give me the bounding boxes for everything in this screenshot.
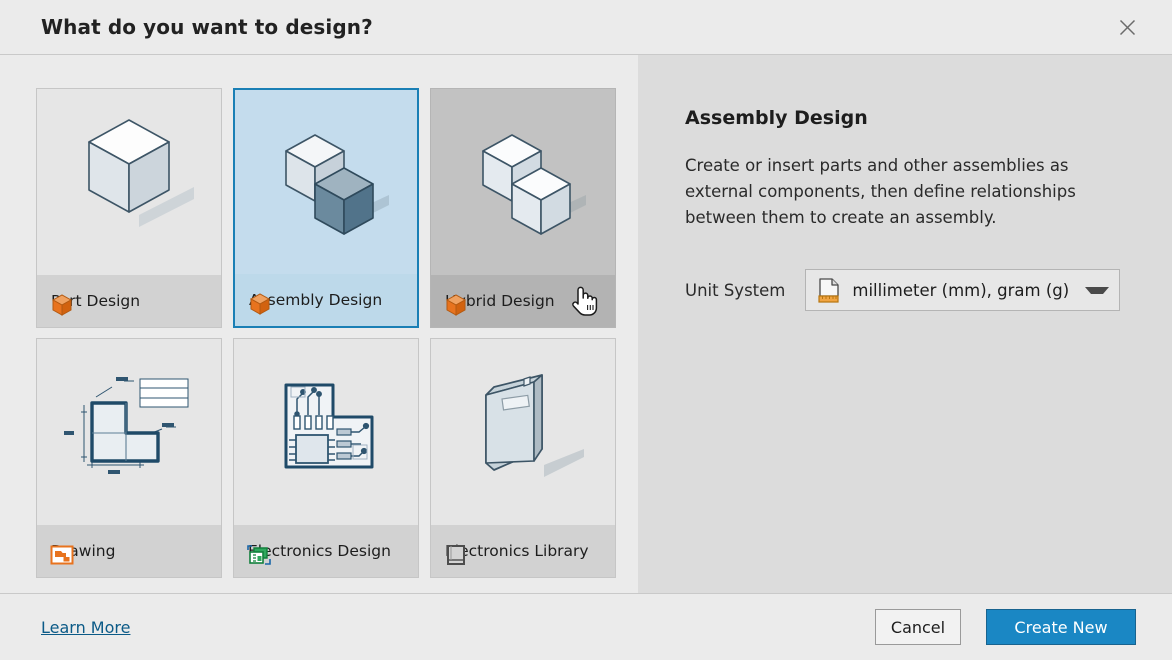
orange-cube-badge <box>49 292 75 318</box>
part-design-thumbnail <box>37 89 221 275</box>
template-grid: Part Design <box>36 88 638 578</box>
card-hybrid-design[interactable]: Hybrid Design <box>430 88 616 328</box>
new-document-dialog: What do you want to design? <box>0 0 1172 660</box>
footer-actions: Cancel Create New <box>875 609 1136 645</box>
document-ruler-icon <box>818 278 841 303</box>
card-assembly-design[interactable]: Assembly Design <box>233 88 419 328</box>
green-pcb-badge <box>246 542 272 568</box>
orange-cube-badge <box>443 292 469 318</box>
pointing-hand-cursor <box>569 283 599 317</box>
dialog-body: Part Design <box>0 55 1172 593</box>
dialog-footer: Learn More Cancel Create New <box>0 593 1172 660</box>
unit-system-label: Unit System <box>685 281 785 300</box>
electronics-library-thumbnail <box>431 339 615 525</box>
template-chooser-pane: Part Design <box>0 55 638 593</box>
hybrid-design-thumbnail <box>431 89 615 275</box>
detail-description: Create or insert parts and other assembl… <box>685 153 1130 231</box>
close-icon[interactable] <box>1110 10 1144 44</box>
card-electronics-library[interactable]: Electronics Library <box>430 338 616 578</box>
learn-more-link[interactable]: Learn More <box>41 618 130 637</box>
card-electronics-design[interactable]: Electronics Design <box>233 338 419 578</box>
assembly-design-thumbnail <box>235 90 417 274</box>
unit-system-row: Unit System millimeter (mm), gram (g) <box>685 269 1172 311</box>
create-new-button[interactable]: Create New <box>986 609 1136 645</box>
cancel-button[interactable]: Cancel <box>875 609 961 645</box>
unit-system-value: millimeter (mm), gram (g) <box>852 281 1077 300</box>
electronics-design-thumbnail <box>234 339 418 525</box>
orange-drawing-badge <box>49 542 75 568</box>
card-part-design[interactable]: Part Design <box>36 88 222 328</box>
dialog-header: What do you want to design? <box>0 0 1172 55</box>
orange-cube-badge <box>247 291 273 317</box>
page-title: What do you want to design? <box>41 15 373 39</box>
chevron-down-icon <box>1085 287 1109 294</box>
detail-pane: Assembly Design Create or insert parts a… <box>638 55 1172 593</box>
gray-book-badge <box>443 542 469 568</box>
card-drawing[interactable]: Drawing <box>36 338 222 578</box>
unit-system-select[interactable]: millimeter (mm), gram (g) <box>805 269 1120 311</box>
detail-title: Assembly Design <box>685 107 1172 129</box>
drawing-thumbnail <box>37 339 221 525</box>
